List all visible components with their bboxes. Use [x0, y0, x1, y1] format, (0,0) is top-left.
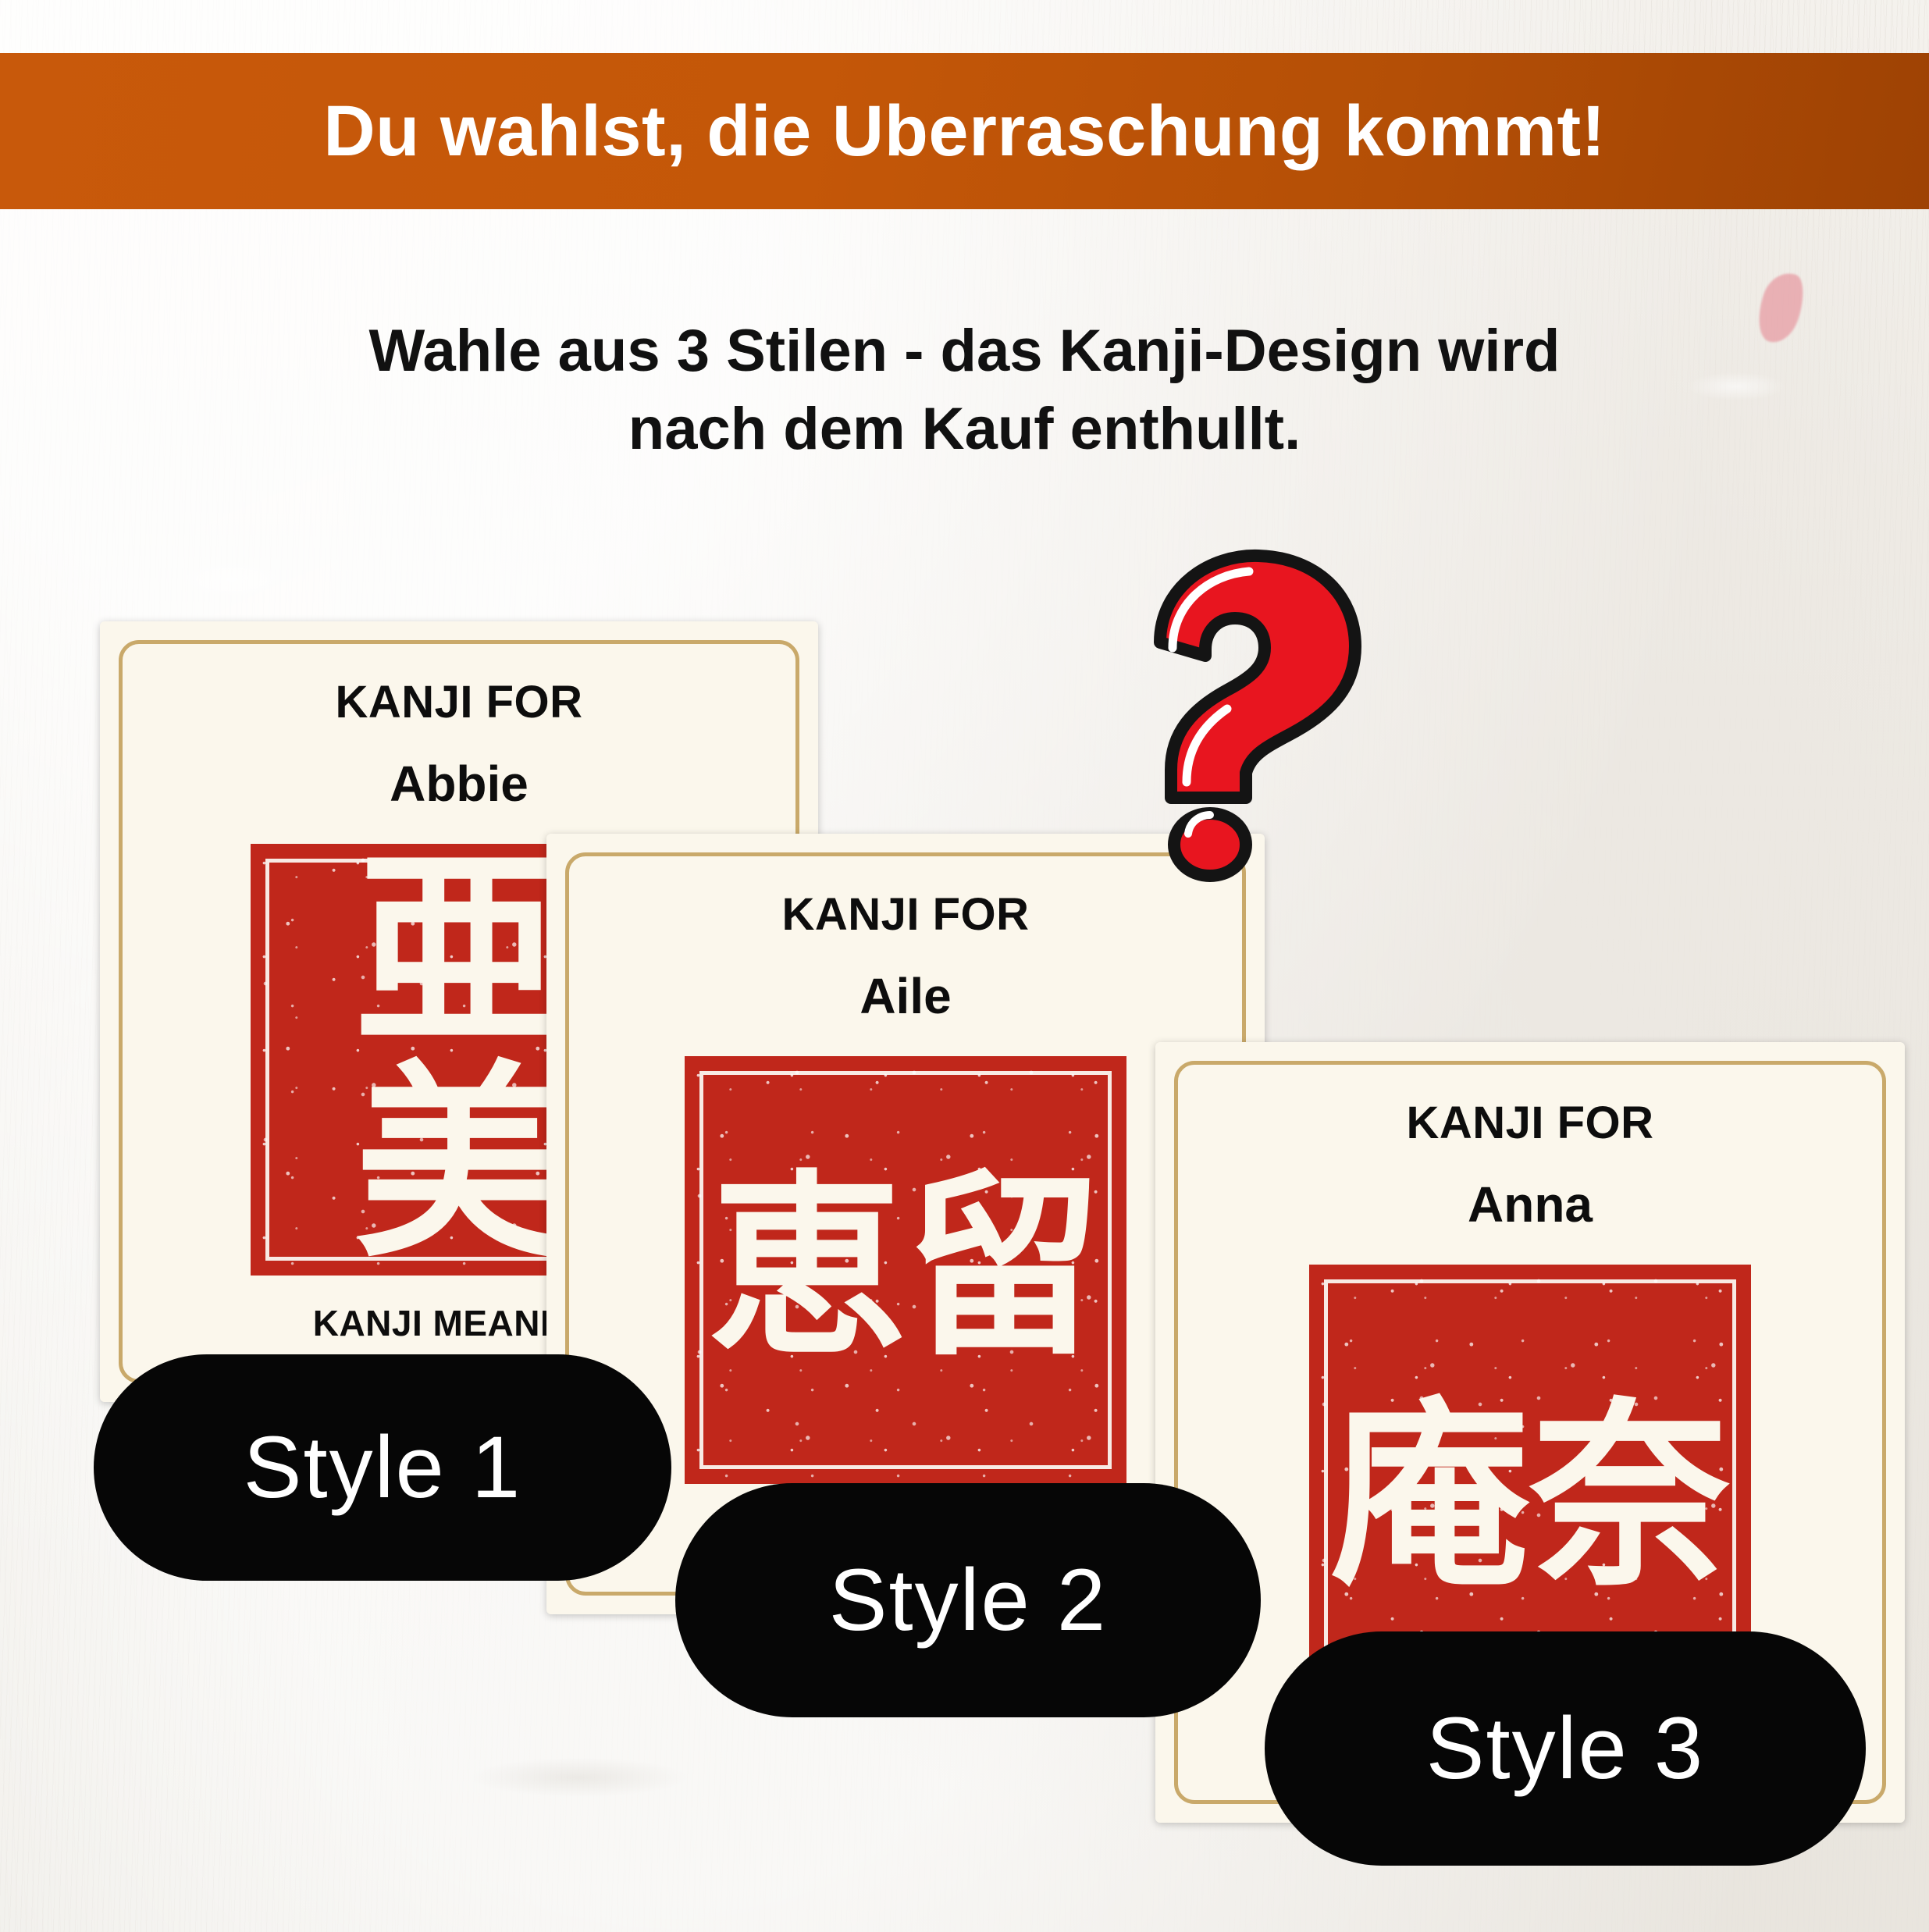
headline-banner: Du wahlst, die Uberraschung kommt! — [0, 53, 1929, 209]
poster-canvas: Du wahlst, die Uberraschung kommt! Wahle… — [0, 0, 1929, 1932]
banner-title: Du wahlst, die Uberraschung kommt! — [323, 95, 1606, 167]
subtitle-block: Wahle aus 3 Stilen - das Kanji-Design wi… — [0, 312, 1929, 469]
card-name: Abbie — [390, 755, 529, 813]
kanji-characters: 恵留 — [709, 1169, 1102, 1370]
card-heading: KANJI FOR — [335, 676, 582, 728]
card-heading: KANJI FOR — [781, 888, 1029, 941]
kanji-stamp: 恵留 — [685, 1056, 1126, 1484]
style-3-badge[interactable]: Style 3 — [1265, 1631, 1866, 1866]
style-3-label: Style 3 — [1426, 1705, 1704, 1792]
card-name: Aile — [860, 967, 951, 1025]
style-2-label: Style 2 — [829, 1557, 1107, 1644]
kanji-characters: 庵奈 — [1330, 1397, 1730, 1601]
card-name: Anna — [1468, 1176, 1593, 1233]
subtitle-line-1: Wahle aus 3 Stilen - das Kanji-Design wi… — [0, 312, 1929, 390]
card-heading: KANJI FOR — [1406, 1097, 1653, 1149]
style-2-badge[interactable]: Style 2 — [675, 1483, 1261, 1717]
style-1-label: Style 1 — [244, 1424, 521, 1511]
subtitle-line-2: nach dem Kauf enthullt. — [0, 390, 1929, 468]
question-mark-icon — [1112, 539, 1369, 882]
style-1-badge[interactable]: Style 1 — [94, 1354, 671, 1581]
